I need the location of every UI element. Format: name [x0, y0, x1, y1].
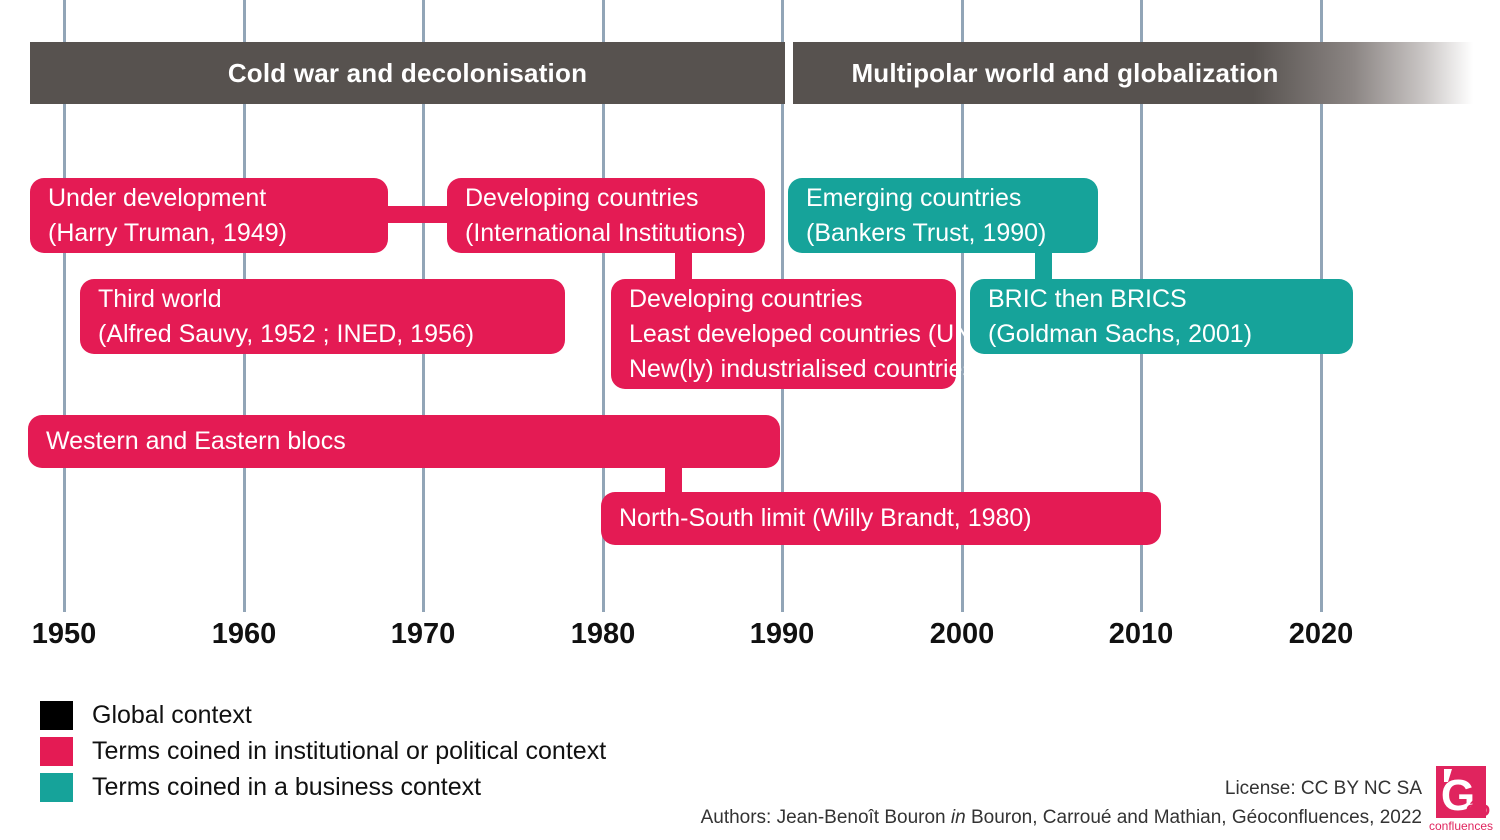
box-line: (Harry Truman, 1949) [48, 216, 370, 251]
timeline-box-western-eastern-blocs[interactable]: Western and Eastern blocs [28, 415, 780, 468]
credits: License: CC BY NC SA Authors: Jean-Benoî… [701, 774, 1422, 832]
axis-tick-1960: 1960 [212, 618, 277, 651]
box-line: Developing countries [629, 282, 938, 317]
axis-tick-1970: 1970 [391, 618, 456, 651]
era-label-multipolar: Multipolar world and globalization [851, 58, 1278, 89]
era-bar-multipolar: Multipolar world and globalization [793, 42, 1473, 104]
box-line: BRIC then BRICS [988, 282, 1335, 317]
era-bar-cold-war: Cold war and decolonisation [30, 42, 785, 104]
legend-swatch-business [40, 773, 73, 802]
connector-under-development-to-developing [380, 206, 455, 223]
axis-tick-2010: 2010 [1109, 618, 1174, 651]
axis-tick-1990: 1990 [750, 618, 815, 651]
timeline-box-bric-then-brics[interactable]: BRIC then BRICS (Goldman Sachs, 2001) [970, 279, 1353, 354]
box-line: Western and Eastern blocs [46, 424, 762, 459]
legend-swatch-global-context [40, 701, 73, 730]
box-line: (Alfred Sauvy, 1952 ; INED, 1956) [98, 317, 547, 352]
legend: Global context Terms coined in instituti… [40, 698, 606, 806]
era-label-cold-war: Cold war and decolonisation [228, 58, 587, 89]
timeline-box-north-south-limit[interactable]: North-South limit (Willy Brandt, 1980) [601, 492, 1161, 545]
legend-swatch-institutional [40, 737, 73, 766]
geoconfluences-logo-icon: G éo confluences [1428, 764, 1494, 834]
box-line: New(ly) industrialised countries [629, 352, 938, 387]
timeline-box-developing-countries-institutions[interactable]: Developing countries (International Inst… [447, 178, 765, 253]
box-line: (International Institutions) [465, 216, 747, 251]
timeline-box-emerging-countries[interactable]: Emerging countries (Bankers Trust, 1990) [788, 178, 1098, 253]
box-line: Under development [48, 181, 370, 216]
svg-text:éo: éo [1466, 798, 1491, 821]
legend-item-institutional: Terms coined in institutional or politic… [40, 734, 606, 769]
authors-suffix: Bouron, Carroué and Mathian, Géoconfluen… [966, 807, 1422, 828]
legend-label: Global context [92, 701, 252, 730]
legend-label: Terms coined in a business context [92, 773, 481, 802]
box-line: Third world [98, 282, 547, 317]
box-line: Developing countries [465, 181, 747, 216]
axis-tick-1980: 1980 [571, 618, 636, 651]
legend-item-business: Terms coined in a business context [40, 770, 606, 805]
box-line: (Bankers Trust, 1990) [806, 216, 1080, 251]
authors-text: Authors: Jean-Benoît Bouron in Bouron, C… [701, 803, 1422, 832]
legend-item-global-context: Global context [40, 698, 606, 733]
timeline-infographic: Cold war and decolonisation Multipolar w… [0, 0, 1500, 840]
timeline-box-developing-least-developed[interactable]: Developing countries Least developed cou… [611, 279, 956, 389]
authors-in: in [951, 807, 966, 828]
box-line: Emerging countries [806, 181, 1080, 216]
geoconfluences-logo: G éo confluences [1428, 764, 1494, 834]
timeline-box-third-world[interactable]: Third world (Alfred Sauvy, 1952 ; INED, … [80, 279, 565, 354]
svg-text:confluences: confluences [1429, 819, 1493, 833]
license-text: License: CC BY NC SA [701, 774, 1422, 803]
legend-label: Terms coined in institutional or politic… [92, 737, 606, 766]
axis-tick-1950: 1950 [32, 618, 97, 651]
axis-tick-2000: 2000 [930, 618, 995, 651]
authors-prefix: Authors: Jean-Benoît Bouron [701, 807, 951, 828]
timeline-box-under-development[interactable]: Under development (Harry Truman, 1949) [30, 178, 388, 253]
box-line: (Goldman Sachs, 2001) [988, 317, 1335, 352]
box-line: North-South limit (Willy Brandt, 1980) [619, 501, 1143, 536]
axis-tick-2020: 2020 [1289, 618, 1354, 651]
box-line: Least developed countries (UN) [629, 317, 938, 352]
